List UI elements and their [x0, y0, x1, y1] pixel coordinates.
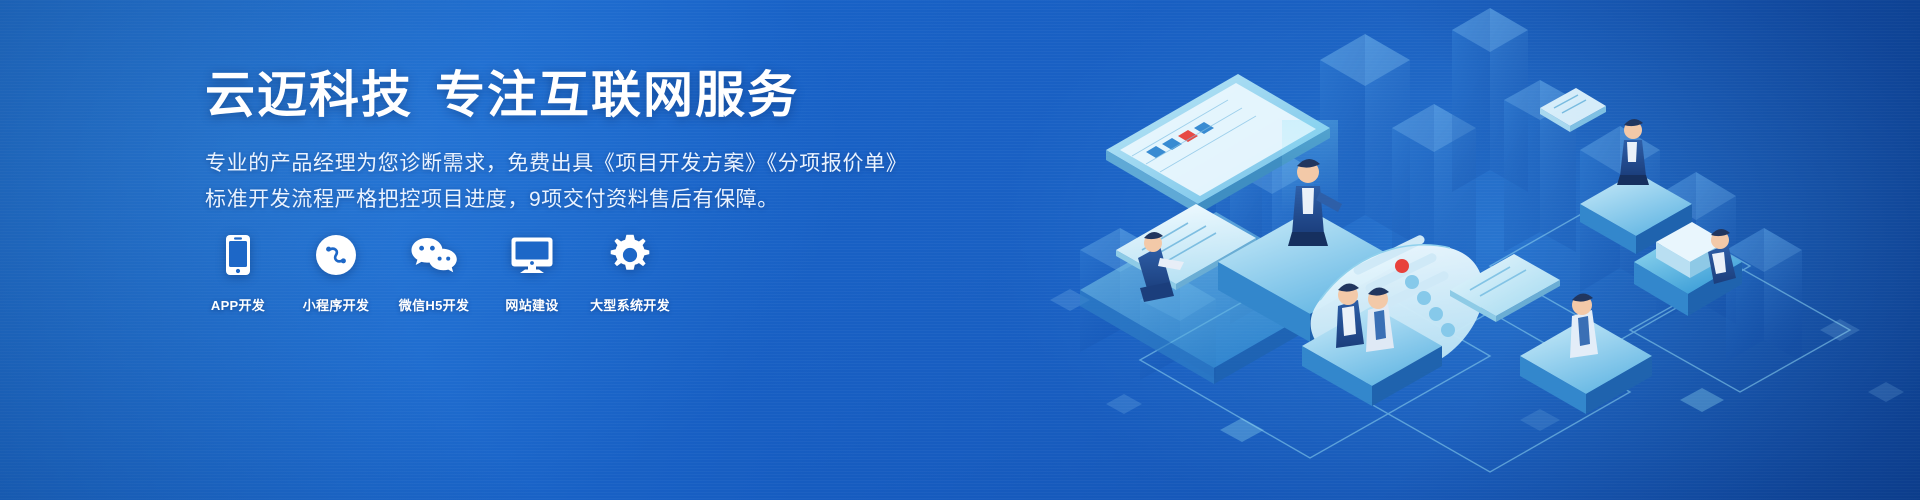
- subtitle-line-1: 专业的产品经理为您诊断需求，免费出具《项目开发方案》《分项报价单》: [205, 147, 965, 181]
- mobile-phone-icon: [225, 232, 251, 278]
- hero-copy: 云迈科技专注互联网服务 专业的产品经理为您诊断需求，免费出具《项目开发方案》《分…: [205, 66, 965, 217]
- service-item-website[interactable]: 网站建设: [494, 232, 570, 314]
- gear-icon: [609, 232, 651, 278]
- headline-tagline: 专注互联网服务: [435, 67, 799, 123]
- service-label: 小程序开发: [303, 295, 370, 314]
- mini-program-icon: [315, 232, 357, 278]
- hero-banner: 云迈科技专注互联网服务 专业的产品经理为您诊断需求，免费出具《项目开发方案》《分…: [0, 0, 1920, 500]
- service-label: APP开发: [211, 295, 265, 314]
- service-item-large-system[interactable]: 大型系统开发: [592, 232, 668, 314]
- service-item-app[interactable]: APP开发: [200, 232, 276, 314]
- page-title: 云迈科技专注互联网服务: [205, 66, 965, 125]
- service-label: 大型系统开发: [590, 295, 670, 314]
- subtitle-line-2: 标准开发流程严格把控项目进度，9项交付资料售后有保障。: [205, 183, 965, 217]
- monitor-icon: [510, 232, 554, 278]
- service-item-mini-program[interactable]: 小程序开发: [298, 232, 374, 314]
- service-label: 网站建设: [505, 295, 558, 314]
- headline-brand: 云迈科技: [205, 67, 413, 123]
- illustration: [1020, 0, 1920, 500]
- service-item-wechat-h5[interactable]: 微信H5开发: [396, 232, 472, 314]
- service-label: 微信H5开发: [399, 295, 469, 314]
- service-list: APP开发 小程序开发: [200, 232, 668, 314]
- wechat-bubbles-icon: [410, 232, 458, 278]
